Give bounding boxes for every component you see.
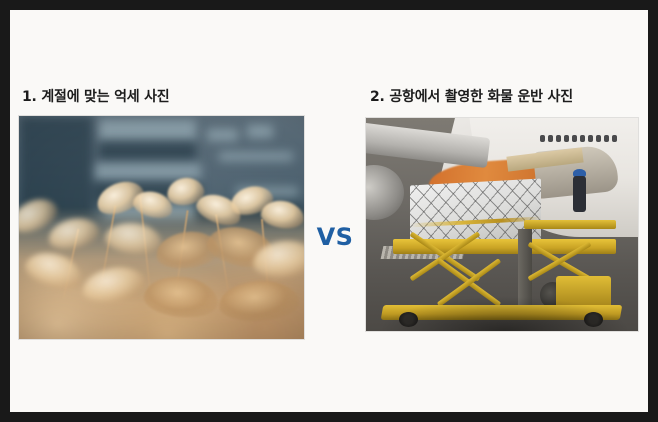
aircraft-window — [564, 135, 569, 142]
aircraft-window — [604, 135, 609, 142]
aircraft-window — [540, 135, 545, 142]
aircraft-window — [596, 135, 601, 142]
photo-vignette — [19, 116, 304, 339]
aircraft-window-row — [540, 129, 638, 148]
ground-shadow — [382, 297, 627, 331]
page-canvas: 1. 계절에 맞는 억세 사진 — [10, 10, 648, 412]
airport-cargo-loader-photo — [366, 118, 638, 331]
aircraft-window — [580, 135, 585, 142]
pampas-grass-photo — [19, 116, 304, 339]
aircraft-window — [572, 135, 577, 142]
caption-right: 2. 공항에서 촬영한 화물 운반 사진 — [370, 86, 573, 106]
screenshot-frame: 1. 계절에 맞는 억세 사진 — [0, 0, 658, 422]
aircraft-window — [548, 135, 553, 142]
aircraft-window — [612, 135, 617, 142]
ground-crew-worker — [573, 176, 587, 212]
aircraft-window — [588, 135, 593, 142]
aircraft-window — [556, 135, 561, 142]
versus-separator-label: VS — [313, 223, 357, 251]
loader-guide-rail — [524, 220, 616, 229]
caption-left: 1. 계절에 맞는 억세 사진 — [22, 86, 169, 106]
